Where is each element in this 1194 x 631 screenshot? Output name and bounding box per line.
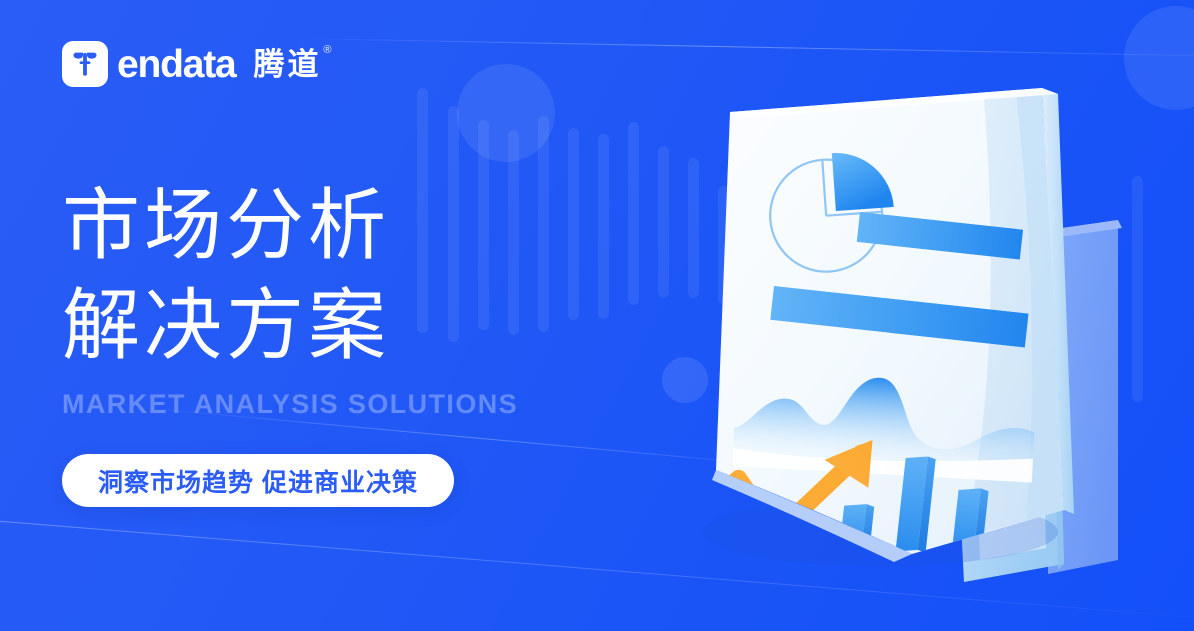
background-bar bbox=[417, 88, 428, 333]
market-report-illustration bbox=[612, 62, 1152, 602]
tendata-sprout-t-icon bbox=[62, 41, 108, 87]
page-title: 市场分析 解决方案 bbox=[62, 176, 390, 376]
registered-trademark-icon: ® bbox=[323, 45, 334, 56]
logo-chinese-text: 腾道 bbox=[254, 47, 322, 82]
report-sheet bbox=[672, 88, 1074, 567]
marketing-banner: endata 腾道 ® 市场分析 解决方案 MARKET ANALYSIS SO… bbox=[0, 0, 1194, 631]
background-circle bbox=[457, 64, 555, 162]
headline-line-1: 市场分析 bbox=[62, 176, 390, 276]
background-bar bbox=[448, 106, 459, 342]
logo-chinese-name: 腾道 ® bbox=[254, 49, 322, 80]
background-bar bbox=[568, 128, 579, 320]
brand-logo[interactable]: endata 腾道 ® bbox=[62, 41, 322, 87]
subtitle-english: MARKET ANALYSIS SOLUTIONS bbox=[62, 389, 518, 420]
tagline-pill-label: 洞察市场趋势 促进商业决策 bbox=[98, 463, 418, 499]
background-bar bbox=[598, 134, 609, 319]
tagline-pill[interactable]: 洞察市场趋势 促进商业决策 bbox=[62, 454, 454, 507]
background-bar bbox=[538, 116, 549, 332]
headline-line-2: 解决方案 bbox=[62, 276, 390, 376]
background-bar bbox=[508, 130, 519, 335]
background-diagonal-line bbox=[300, 38, 1194, 56]
logo-wordmark: endata bbox=[117, 45, 236, 84]
background-bar bbox=[478, 120, 489, 330]
